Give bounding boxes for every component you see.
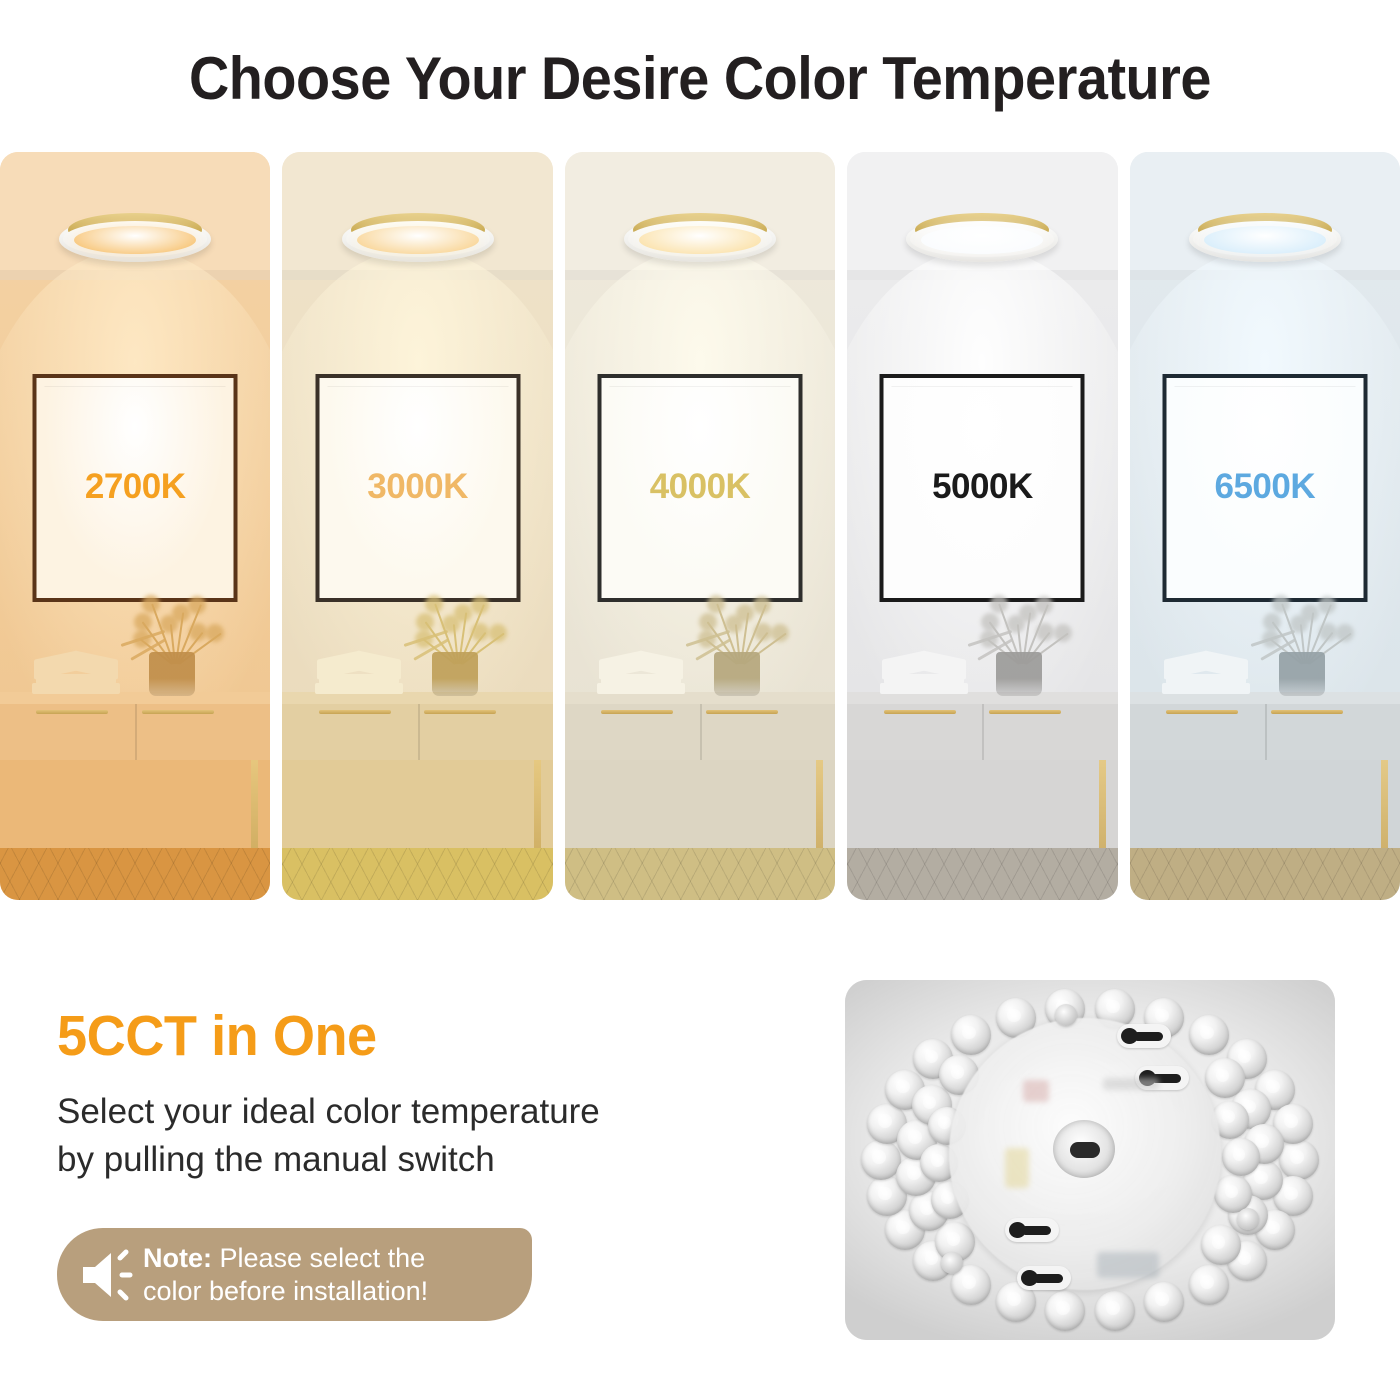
led-internal-component [1023,1080,1049,1102]
page-title: Choose Your Desire Color Temperature [49,44,1351,113]
herringbone-pattern [565,848,835,900]
herringbone-pattern [282,848,552,900]
drawer-divider [1265,704,1267,760]
color-temperature-panel-strip: 2700K3000K4000K5000K6500K [0,152,1400,900]
note-label: Note: [143,1243,212,1273]
grass-puff [1272,595,1290,613]
cct-label: 6500K [1166,467,1363,507]
center-wire-hub [1053,1120,1115,1178]
book-bottom [32,683,120,694]
console-table [565,692,835,778]
stacked-books [597,646,685,694]
grass-puff [1035,596,1053,614]
ceiling-light-fixture [342,210,494,266]
note-line-2: color before installation! [143,1275,428,1308]
fixture-diffuser [1204,226,1326,254]
note-text: Note: Please select the color before ins… [143,1242,428,1308]
cct-panel-3000k: 3000K [282,152,552,900]
led-lens [1095,1291,1135,1331]
grass-puff [454,604,472,622]
grass-puff [699,613,717,631]
stacked-books [315,646,403,694]
grass-puff [172,604,190,622]
grass-puff [1318,596,1336,614]
console-drawers [282,704,552,760]
ceiling-light-fixture [624,210,776,266]
grass-puff [1336,624,1354,642]
led-lens [1045,1291,1085,1331]
console-drawers [565,704,835,760]
console-table [0,692,270,778]
grass-puff [416,613,434,631]
drawer-handle-left [1166,710,1238,714]
drawer-divider [418,704,420,760]
grass-puff [1036,623,1054,641]
herringbone-pattern [1130,848,1400,900]
book-bottom [880,683,968,694]
fixture-diffuser [921,226,1043,254]
speaker-icon [79,1249,135,1301]
drawer-handle-left [36,710,108,714]
subcopy: Select your ideal color temperature by p… [57,1088,797,1185]
vase-with-dried-grass [398,592,518,696]
grass-puff [189,623,207,641]
cct-panel-2700k: 2700K [0,152,270,900]
mounting-screw [1055,1004,1077,1026]
vase-with-dried-grass [680,592,800,696]
wall-picture-frame: 4000K [598,374,803,602]
console-drawers [847,704,1117,760]
herringbone-pattern [847,848,1117,900]
book-bottom [597,683,685,694]
cct-label: 3000K [319,467,516,507]
cct-panel-5000k: 5000K [847,152,1117,900]
cct-panel-4000k: 4000K [565,152,835,900]
book-bottom [315,683,403,694]
wall-picture-frame: 5000K [880,374,1085,602]
drawer-divider [135,704,137,760]
vase-with-dried-grass [1245,592,1365,696]
led-lens [1222,1138,1260,1176]
infographic-root: Choose Your Desire Color Temperature 270… [0,0,1400,1400]
open-book [599,653,683,675]
vase-with-dried-grass [962,592,1082,696]
cct-label: 4000K [602,467,799,507]
led-lens [1189,1265,1229,1305]
subcopy-line-1: Select your ideal color temperature [57,1088,797,1136]
vase [714,652,760,696]
stacked-books [1162,646,1250,694]
grass-puff [771,624,789,642]
grass-puff [707,595,725,613]
grass-puff [1319,623,1337,641]
mounting-keyhole [1117,1024,1171,1048]
subcopy-line-2: by pulling the manual switch [57,1136,797,1184]
grass-puff [981,613,999,631]
mounting-screw [941,1252,963,1274]
drawer-handle-right [1271,710,1343,714]
led-lens [1144,1282,1184,1322]
vase [149,652,195,696]
fixture-diffuser [357,226,479,254]
grass-puff [206,624,224,642]
ceiling-light-fixture [906,210,1058,266]
led-lens [1279,1140,1319,1180]
drawer-divider [982,704,984,760]
ceiling-light-fixture [59,210,211,266]
drawer-handle-right [142,710,214,714]
grass-puff [425,595,443,613]
grass-puff [1054,624,1072,642]
wood-floor [0,848,270,900]
drawer-handle-left [319,710,391,714]
open-book [882,653,966,675]
drawer-handle-left [601,710,673,714]
drawer-handle-right [424,710,496,714]
cct-panel-6500k: 6500K [1130,152,1400,900]
note-badge: Note: Please select the color before ins… [57,1228,532,1321]
drawer-handle-left [884,710,956,714]
fixture-diffuser [639,226,761,254]
grass-puff [990,595,1008,613]
grass-puff [471,596,489,614]
wood-floor [565,848,835,900]
led-internal-component [1103,1078,1159,1090]
console-table [847,692,1117,778]
book-bottom [1162,683,1250,694]
lower-section: 5CCT in One Select your ideal color temp… [0,985,1400,1385]
wall-picture-frame: 3000K [315,374,520,602]
grass-puff [753,596,771,614]
stacked-books [880,646,968,694]
console-drawers [0,704,270,760]
drawer-handle-right [706,710,778,714]
cct-label: 5000K [884,467,1081,507]
wall-picture-frame: 2700K [33,374,238,602]
ceiling-light-fixture [1189,210,1341,266]
grass-puff [754,623,772,641]
grass-puff [489,624,507,642]
wall-picture-frame: 6500K [1162,374,1367,602]
grass-puff [188,596,206,614]
grass-puff [471,623,489,641]
open-book [317,653,401,675]
console-table [1130,692,1400,778]
stacked-books [32,646,120,694]
open-book [1164,653,1248,675]
led-internal-component [1097,1252,1159,1278]
mounting-keyhole [1005,1218,1059,1242]
vase-with-dried-grass [115,592,235,696]
grass-puff [1019,604,1037,622]
led-lens [861,1140,901,1180]
grass-puff [1301,604,1319,622]
grass-puff [134,613,152,631]
drawer-handle-right [989,710,1061,714]
herringbone-pattern [0,848,270,900]
mounting-screw [1237,1208,1259,1230]
led-lens [1201,1225,1241,1265]
note-line-1: Please select the [212,1243,425,1273]
mounting-keyhole [1017,1266,1071,1290]
wood-floor [847,848,1117,900]
wood-floor [282,848,552,900]
led-internal-component [1005,1148,1029,1188]
console-table [282,692,552,778]
wood-floor [1130,848,1400,900]
headline-5cct: 5CCT in One [57,1003,377,1069]
led-lens [1189,1015,1229,1055]
vase [996,652,1042,696]
drawer-divider [700,704,702,760]
vase [1279,652,1325,696]
open-book [34,653,118,675]
console-drawers [1130,704,1400,760]
grass-puff [736,604,754,622]
cct-label: 2700K [37,467,234,507]
fixture-diffuser [74,226,196,254]
led-module-photo [845,980,1335,1340]
vase [432,652,478,696]
grass-puff [142,595,160,613]
